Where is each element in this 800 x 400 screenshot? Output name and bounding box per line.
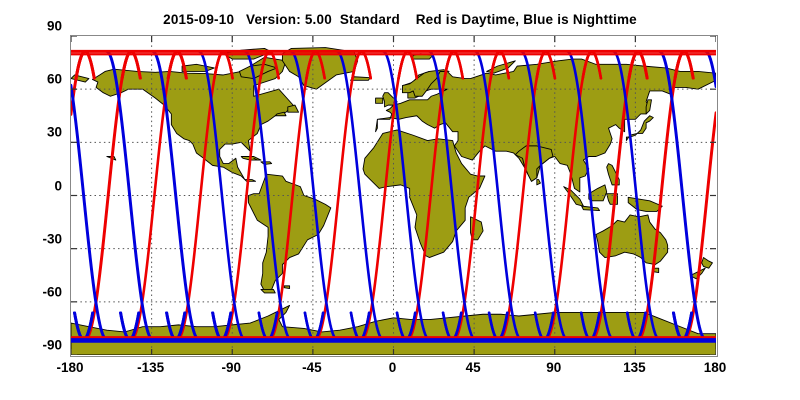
x-tick-label: 135 xyxy=(623,360,646,375)
orbit-ground-track-figure: 2015-09-10 Version: 5.00 Standard Red is… xyxy=(0,0,800,400)
x-tick-label: 180 xyxy=(704,360,727,375)
x-tick-label: 45 xyxy=(466,360,481,375)
x-tick-label: 0 xyxy=(389,360,397,375)
x-tick-label: -45 xyxy=(302,360,322,375)
x-tick-label: 90 xyxy=(546,360,561,375)
x-tick-label: -90 xyxy=(221,360,241,375)
x-axis-tick-labels: -180-135-90-4504590135180 xyxy=(0,0,800,400)
x-tick-label: -135 xyxy=(137,360,164,375)
x-tick-label: -180 xyxy=(56,360,83,375)
